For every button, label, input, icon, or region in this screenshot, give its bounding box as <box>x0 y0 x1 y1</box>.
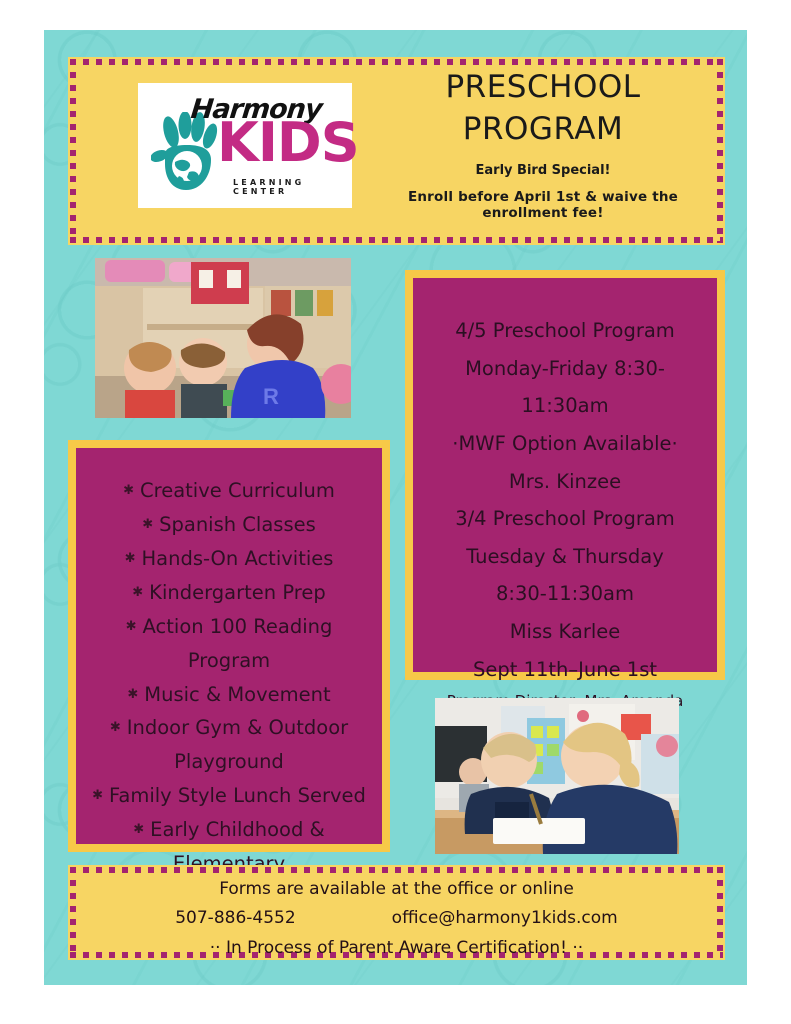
features-panel: ✱Creative Curriculum ✱Spanish Classes ✱H… <box>68 440 390 852</box>
feature-label: Spanish Classes <box>159 513 316 536</box>
feature-label: Music & Movement <box>144 683 330 706</box>
list-item: ✱Music & Movement <box>92 678 366 712</box>
bullet-icon: ✱ <box>142 517 153 532</box>
footer-certification-line: ·· In Process of Parent Aware Certificat… <box>86 938 707 958</box>
bullet-icon: ✱ <box>110 720 121 735</box>
feature-label: Hands-On Activities <box>141 547 333 570</box>
list-item: ✱Action 100 Reading Program <box>92 610 366 678</box>
logo-card: Harmony KIDS LEARNING CENTER <box>138 83 352 208</box>
list-item: ✱Kindergarten Prep <box>92 576 366 610</box>
email-address[interactable]: office@harmony1kids.com <box>392 908 618 928</box>
feature-label: Creative Curriculum <box>140 479 335 502</box>
phone-number[interactable]: 507-886-4552 <box>175 908 295 928</box>
program-details-panel: 4/5 Preschool Program Monday-Friday 8:30… <box>405 270 725 680</box>
flyer-canvas: Harmony KIDS LEARNING CENTER PRESCHOOL P… <box>44 30 747 985</box>
list-item: ✱Hands-On Activities <box>92 542 366 576</box>
program-line: Tuesday & Thursday <box>425 538 705 576</box>
bullet-icon: ✱ <box>132 585 143 600</box>
program-line: 4/5 Preschool Program <box>425 312 705 350</box>
features-list: ✱Creative Curriculum ✱Spanish Classes ✱H… <box>76 448 382 915</box>
feature-label: Family Style Lunch Served <box>109 784 366 807</box>
list-item: ✱Family Style Lunch Served <box>92 779 366 813</box>
footer-panel: Forms are available at the office or onl… <box>68 865 725 960</box>
program-line: ·MWF Option Available· <box>425 425 705 463</box>
program-line: Monday-Friday 8:30-11:30am <box>425 350 705 425</box>
header-promo: Enroll before April 1st & waive the enro… <box>368 189 718 221</box>
program-line: Sept 11th–June 1st <box>425 651 705 689</box>
bullet-icon: ✱ <box>125 551 136 566</box>
bullet-icon: ✱ <box>127 687 138 702</box>
feature-label: Indoor Gym & Outdoor <box>127 716 348 739</box>
list-item: ✱Indoor Gym & OutdoorPlayground <box>92 711 366 779</box>
program-line: 3/4 Preschool Program <box>425 500 705 538</box>
list-item: ✱Creative Curriculum <box>92 474 366 508</box>
header-text-block: PRESCHOOL PROGRAM Early Bird Special! En… <box>368 67 718 221</box>
title-line-2: PROGRAM <box>368 109 718 151</box>
program-lines: 4/5 Preschool Program Monday-Friday 8:30… <box>413 278 717 713</box>
program-line: Mrs. Kinzee <box>425 463 705 501</box>
classroom-photo: R <box>95 258 351 418</box>
logo-tagline: LEARNING CENTER <box>233 178 345 196</box>
program-line: Miss Karlee <box>425 613 705 651</box>
bullet-icon: ✱ <box>133 822 144 837</box>
header-subtitle: Early Bird Special! <box>368 163 718 178</box>
header-panel: Harmony KIDS LEARNING CENTER PRESCHOOL P… <box>68 57 725 245</box>
bullet-icon: ✱ <box>123 483 134 498</box>
title-line-1: PRESCHOOL <box>368 67 718 109</box>
program-line: 8:30-11:30am <box>425 575 705 613</box>
logo-kids-text: KIDS <box>217 116 359 170</box>
feature-label: Action 100 Reading Program <box>143 615 333 672</box>
feature-label: Kindergarten Prep <box>149 581 326 604</box>
feature-label-continued: Playground <box>92 745 366 779</box>
footer-forms-line: Forms are available at the office or onl… <box>86 879 707 899</box>
bullet-icon: ✱ <box>126 619 137 634</box>
desk-photo <box>435 698 679 854</box>
bullet-icon: ✱ <box>92 788 103 803</box>
svg-text:R: R <box>263 384 279 409</box>
list-item: ✱Spanish Classes <box>92 508 366 542</box>
